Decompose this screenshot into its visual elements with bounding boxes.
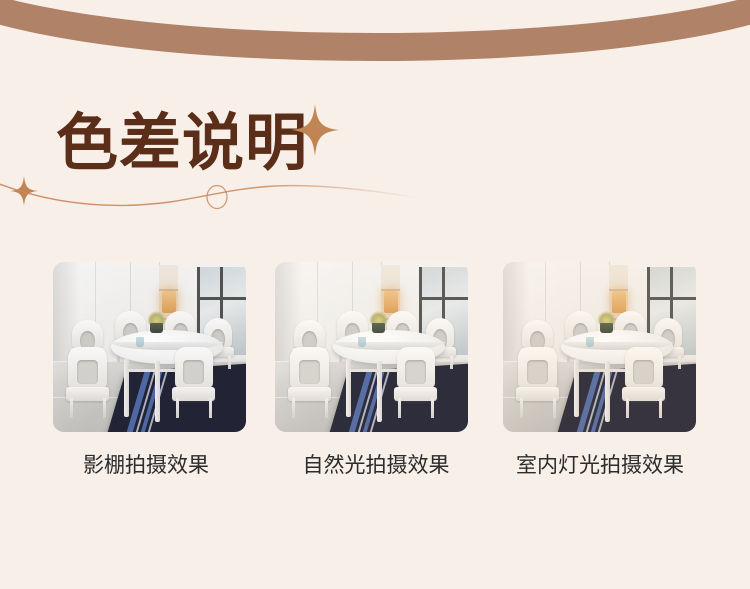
chair xyxy=(175,347,214,418)
dining-room-scene xyxy=(275,262,468,432)
chair xyxy=(625,347,664,418)
photo-gallery xyxy=(0,262,750,434)
caption-indoor-light: 室内灯光拍摄效果 xyxy=(480,450,720,480)
chair xyxy=(397,347,436,418)
dining-room-scene xyxy=(503,262,696,432)
chair xyxy=(518,347,557,418)
table-glass xyxy=(586,337,594,347)
top-decorative-band xyxy=(0,0,750,70)
chair xyxy=(68,347,107,418)
gallery-card-studio[interactable] xyxy=(53,262,246,432)
chair xyxy=(290,347,329,418)
gallery-card-natural-light[interactable] xyxy=(275,262,468,432)
gallery-card-indoor-light[interactable] xyxy=(503,262,696,432)
four-point-star-large-icon xyxy=(291,104,339,156)
table-glass xyxy=(358,337,366,347)
decorative-swoosh-line xyxy=(0,160,420,230)
caption-studio: 影棚拍摄效果 xyxy=(26,450,266,480)
page-root: 色差说明 xyxy=(0,0,750,589)
caption-natural-light: 自然光拍摄效果 xyxy=(256,450,496,480)
gallery-captions: 影棚拍摄效果 自然光拍摄效果 室内灯光拍摄效果 xyxy=(0,450,750,486)
dining-room-scene xyxy=(53,262,246,432)
table-glass xyxy=(136,337,144,347)
